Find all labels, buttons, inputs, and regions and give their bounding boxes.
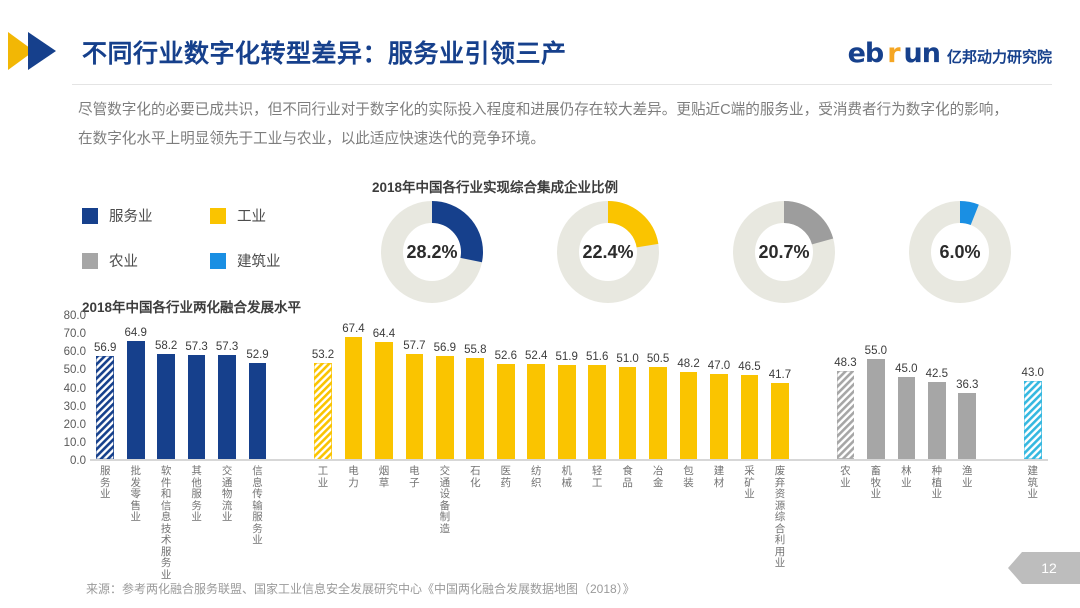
bar-solid-fill: [466, 358, 484, 459]
bar-solid-fill: [649, 367, 667, 459]
bar-废弃资源综合利用业: 41.7: [771, 383, 789, 459]
bar-value-label-电力: 67.4: [342, 323, 364, 335]
x-label-农业: 农业: [839, 466, 851, 489]
legend-label-construction: 建筑业: [237, 250, 281, 271]
bar-交通设备制造: 56.9: [436, 356, 454, 459]
bar-value-label-石化: 55.8: [464, 344, 486, 356]
donut-chart-row: 28.2%22.4%20.7%6.0%: [376, 196, 1016, 308]
bar-value-label-建材: 47.0: [708, 360, 730, 372]
x-label-烟草: 烟草: [378, 466, 390, 489]
bar-value-label-其他服务业: 57.3: [185, 341, 207, 353]
x-label-包装: 包装: [683, 466, 695, 489]
bar-林业: 45.0: [898, 377, 916, 459]
x-label-纺织: 纺织: [530, 466, 542, 489]
x-label-电子: 电子: [408, 466, 420, 489]
y-tick-60: 60.0: [64, 346, 86, 358]
source-note: 来源：参考两化融合服务联盟、国家工业信息安全发展研究中心《中国两化融合发展数据地…: [86, 580, 635, 597]
bar-value-label-医药: 52.6: [495, 350, 517, 362]
bar-value-label-废弃资源综合利用业: 41.7: [769, 369, 791, 381]
x-label-交通设备制造: 交通设备制造: [439, 466, 451, 535]
x-label-电力: 电力: [347, 466, 359, 489]
header-divider: [72, 84, 1052, 85]
y-tick-30: 30.0: [64, 401, 86, 413]
bar-电子: 57.7: [406, 354, 424, 459]
x-label-食品: 食品: [622, 466, 634, 489]
x-label-软件和信息技术服务业: 软件和信息技术服务业: [160, 466, 172, 581]
intro-paragraph: 尽管数字化的必要已成共识，但不同行业对于数字化的实际投入程度和进展仍存在较大差异…: [78, 96, 1008, 154]
bar-交通物流业: 57.3: [218, 355, 236, 459]
bar-渔业: 36.3: [958, 393, 976, 459]
bar-solid-fill: [188, 355, 206, 459]
x-label-建材: 建材: [713, 466, 725, 489]
bar-solid-fill: [928, 382, 946, 459]
bar-畜牧业: 55.0: [867, 359, 885, 459]
x-label-废弃资源综合利用业: 废弃资源综合利用业: [774, 466, 786, 570]
axis-baseline: [90, 459, 1048, 461]
bar-solid-fill: [375, 342, 393, 459]
x-label-渔业: 渔业: [961, 466, 973, 489]
arrow-logo-svg: [8, 30, 78, 72]
bar-石化: 55.8: [466, 358, 484, 459]
x-label-冶金: 冶金: [652, 466, 664, 489]
bar-建材: 47.0: [710, 374, 728, 459]
bar-solid-fill: [127, 341, 145, 459]
bar-solid-fill: [680, 372, 698, 459]
y-tick-10: 10.0: [64, 437, 86, 449]
y-tick-0: 0.0: [70, 455, 86, 467]
bar-冶金: 50.5: [649, 367, 667, 459]
donut-4: 6.0%: [904, 196, 1016, 308]
legend-item-construction: 建筑业: [210, 250, 338, 271]
bar-value-label-软件和信息技术服务业: 58.2: [155, 340, 177, 352]
bar-value-label-机械: 51.9: [556, 351, 578, 363]
legend-label-agriculture: 农业: [109, 250, 138, 271]
bar-hatch-fill: [837, 371, 855, 459]
bar-医药: 52.6: [497, 364, 515, 459]
bar-轻工: 51.6: [588, 365, 606, 459]
y-axis: 80.070.060.050.040.030.020.010.00.0: [40, 316, 86, 461]
bar-value-label-包装: 48.2: [677, 358, 699, 370]
x-label-畜牧业: 畜牧业: [870, 466, 882, 501]
bar-value-label-交通物流业: 57.3: [216, 341, 238, 353]
bar-value-label-工业: 53.2: [312, 349, 334, 361]
x-label-交通物流业: 交通物流业: [221, 466, 233, 524]
x-label-种植业: 种植业: [931, 466, 943, 501]
bar-solid-fill: [619, 367, 637, 459]
legend-item-industry: 工业: [210, 205, 338, 226]
bar-solid-fill: [771, 383, 789, 459]
bar-solid-fill: [867, 359, 885, 459]
y-tick-80: 80.0: [64, 310, 86, 322]
page-number-text: 12: [1041, 560, 1057, 576]
bar-value-label-轻工: 51.6: [586, 351, 608, 363]
donut-value-label-2: 22.4%: [552, 196, 664, 308]
x-label-信息传输服务业: 信息传输服务业: [252, 466, 264, 547]
bar-solid-fill: [157, 354, 175, 459]
bar-hatch-fill: [96, 356, 114, 459]
donut-2: 22.4%: [552, 196, 664, 308]
y-tick-70: 70.0: [64, 328, 86, 340]
bar-工业: 53.2: [314, 363, 332, 459]
brand-logo: ebrun 亿邦动力研究院: [848, 38, 1052, 69]
x-label-建筑业: 建筑业: [1027, 466, 1039, 501]
bar-value-label-信息传输服务业: 52.9: [246, 349, 268, 361]
bar-chart-title: 2018年中国各行业两化融合发展水平: [82, 296, 301, 316]
slide-root: 不同行业数字化转型差异：服务业引领三产 ebrun 亿邦动力研究院 尽管数字化的…: [0, 0, 1080, 608]
x-label-批发零售业: 批发零售业: [130, 466, 142, 524]
logo-text-r: r: [887, 38, 899, 69]
bar-value-label-冶金: 50.5: [647, 353, 669, 365]
logo-text-un: un: [904, 38, 940, 69]
arrow-navy-shape: [28, 32, 56, 70]
plot-area: 56.964.958.257.357.352.953.267.464.457.7…: [90, 316, 1050, 461]
donut-value-label-3: 20.7%: [728, 196, 840, 308]
bar-烟草: 64.4: [375, 342, 393, 459]
x-label-服务业: 服务业: [99, 466, 111, 501]
legend-swatch-construction: [210, 253, 226, 269]
legend-label-service: 服务业: [109, 205, 153, 226]
logo-text-cn: 亿邦动力研究院: [947, 46, 1052, 67]
donut-value-label-4: 6.0%: [904, 196, 1016, 308]
bar-solid-fill: [218, 355, 236, 459]
x-label-医药: 医药: [500, 466, 512, 489]
bar-solid-fill: [527, 364, 545, 459]
donut-1: 28.2%: [376, 196, 488, 308]
y-tick-50: 50.0: [64, 364, 86, 376]
bar-采矿业: 46.5: [741, 375, 759, 459]
legend-item-agriculture: 农业: [82, 250, 210, 271]
donut-3: 20.7%: [728, 196, 840, 308]
legend-label-industry: 工业: [237, 205, 266, 226]
bar-solid-fill: [497, 364, 515, 459]
bar-solid-fill: [741, 375, 759, 459]
bar-value-label-畜牧业: 55.0: [865, 345, 887, 357]
page-title: 不同行业数字化转型差异：服务业引领三产: [82, 34, 567, 70]
bar-value-label-批发零售业: 64.9: [124, 327, 146, 339]
bar-批发零售业: 64.9: [127, 341, 145, 459]
bar-solid-fill: [588, 365, 606, 459]
donut-chart-title: 2018年中国各行业实现综合集成企业比例: [372, 176, 618, 196]
bar-solid-fill: [406, 354, 424, 459]
bar-信息传输服务业: 52.9: [249, 363, 267, 459]
x-label-其他服务业: 其他服务业: [191, 466, 203, 524]
donut-value-label-1: 28.2%: [376, 196, 488, 308]
bar-机械: 51.9: [558, 365, 576, 459]
bar-value-label-服务业: 56.9: [94, 342, 116, 354]
bar-value-label-电子: 57.7: [403, 340, 425, 352]
y-tick-40: 40.0: [64, 383, 86, 395]
x-label-轻工: 轻工: [591, 466, 603, 489]
bar-value-label-纺织: 52.4: [525, 350, 547, 362]
page-number-badge: 12: [1008, 552, 1080, 584]
bar-solid-fill: [558, 365, 576, 459]
header-arrow-icon: [8, 30, 78, 72]
bar-solid-fill: [958, 393, 976, 459]
bar-农业: 48.3: [837, 371, 855, 459]
bar-hatch-fill: [1024, 381, 1042, 459]
bar-value-label-种植业: 42.5: [926, 368, 948, 380]
bar-solid-fill: [898, 377, 916, 459]
bar-value-label-采矿业: 46.5: [738, 361, 760, 373]
x-axis-labels: 服务业批发零售业软件和信息技术服务业其他服务业交通物流业信息传输服务业工业电力烟…: [90, 466, 1050, 586]
bar-solid-fill: [345, 337, 363, 459]
bar-纺织: 52.4: [527, 364, 545, 459]
x-label-石化: 石化: [469, 466, 481, 489]
bar-value-label-建筑业: 43.0: [1022, 367, 1044, 379]
bar-solid-fill: [436, 356, 454, 459]
bar-hatch-fill: [314, 363, 332, 459]
bar-solid-fill: [249, 363, 267, 459]
legend-swatch-industry: [210, 208, 226, 224]
x-label-采矿业: 采矿业: [743, 466, 755, 501]
bar-value-label-林业: 45.0: [895, 363, 917, 375]
legend-item-service: 服务业: [82, 205, 210, 226]
chart-legend: 服务业 工业 农业 建筑业: [82, 205, 332, 271]
x-label-机械: 机械: [561, 466, 573, 489]
bar-建筑业: 43.0: [1024, 381, 1042, 459]
bar-种植业: 42.5: [928, 382, 946, 459]
logo-text-eb: eb: [848, 38, 884, 69]
bar-其他服务业: 57.3: [188, 355, 206, 459]
bar-value-label-交通设备制造: 56.9: [434, 342, 456, 354]
bar-软件和信息技术服务业: 58.2: [157, 354, 175, 459]
bar-食品: 51.0: [619, 367, 637, 459]
bar-value-label-烟草: 64.4: [373, 328, 395, 340]
y-tick-20: 20.0: [64, 419, 86, 431]
bar-value-label-渔业: 36.3: [956, 379, 978, 391]
bar-value-label-农业: 48.3: [834, 357, 856, 369]
legend-swatch-service: [82, 208, 98, 224]
x-label-工业: 工业: [317, 466, 329, 489]
bar-solid-fill: [710, 374, 728, 459]
legend-swatch-agriculture: [82, 253, 98, 269]
bar-电力: 67.4: [345, 337, 363, 459]
bar-包装: 48.2: [680, 372, 698, 459]
bar-chart: 80.070.060.050.040.030.020.010.00.0 56.9…: [40, 316, 1050, 471]
bar-服务业: 56.9: [96, 356, 114, 459]
x-label-林业: 林业: [900, 466, 912, 489]
bar-value-label-食品: 51.0: [616, 353, 638, 365]
